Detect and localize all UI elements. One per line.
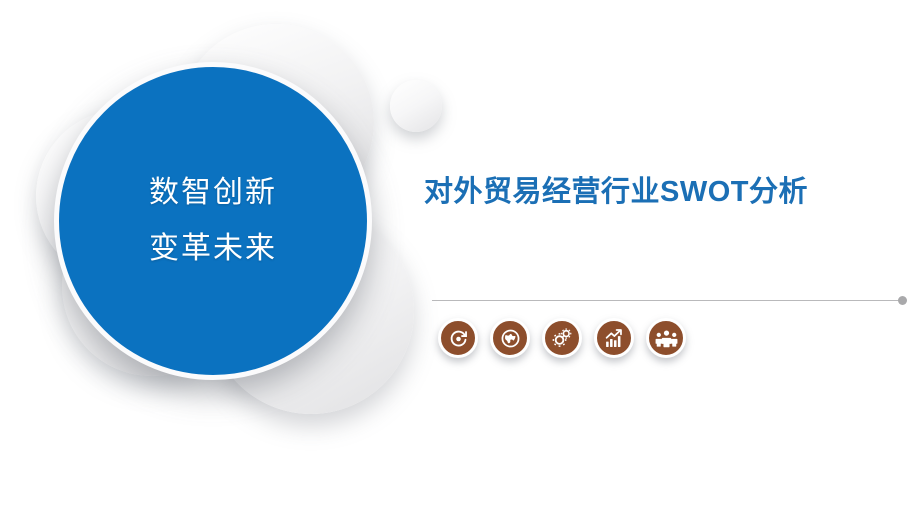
divider-line <box>432 300 902 301</box>
globe-icon <box>500 328 521 349</box>
icon-badge-people-group[interactable] <box>646 318 686 358</box>
icon-row <box>438 318 686 358</box>
slide-title: 对外贸易经营行业SWOT分析 <box>424 172 874 213</box>
refresh-cycle-icon <box>448 328 469 349</box>
badge-line-1: 数智创新 <box>149 178 277 208</box>
circle-cluster: 数智创新 变革未来 <box>0 0 470 440</box>
icon-badge-globe[interactable] <box>490 318 530 358</box>
people-group-icon <box>655 327 678 350</box>
divider-end-dot <box>898 296 907 305</box>
icon-badge-bar-chart-growth[interactable] <box>594 318 634 358</box>
divider <box>432 296 916 306</box>
content-column: 对外贸易经营行业SWOT分析 <box>424 0 920 518</box>
gears-icon <box>551 327 573 349</box>
slide-canvas: 数智创新 变革未来 对外贸易经营行业SWOT分析 <box>0 0 920 518</box>
icon-badge-refresh-cycle[interactable] <box>438 318 478 358</box>
bar-chart-growth-icon <box>604 328 625 349</box>
badge-line-2: 变革未来 <box>149 234 277 264</box>
icon-badge-gears[interactable] <box>542 318 582 358</box>
badge-text-block: 数智创新 变革未来 <box>54 62 372 380</box>
